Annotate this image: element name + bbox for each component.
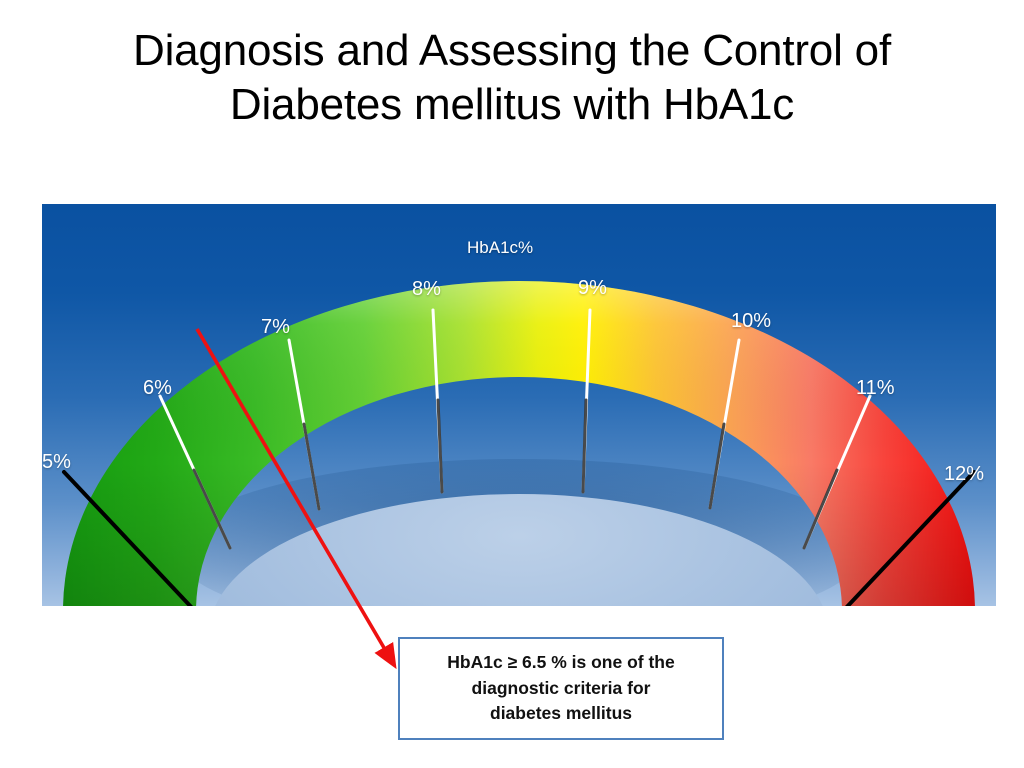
diagnostic-criteria-callout: HbA1c ≥ 6.5 % is one of the diagnostic c…	[398, 637, 724, 740]
gauge-graphic	[42, 204, 996, 606]
callout-text: HbA1c ≥ 6.5 % is one of the diagnostic c…	[439, 650, 682, 726]
page-title: Diagnosis and Assessing the Control of D…	[0, 24, 1024, 131]
callout-line-3: diabetes mellitus	[447, 701, 674, 726]
callout-line-1: HbA1c ≥ 6.5 % is one of the	[447, 650, 674, 675]
callout-line-2: diagnostic criteria for	[447, 676, 674, 701]
page-title-line-1: Diagnosis and Assessing the Control of	[0, 24, 1024, 78]
hba1c-gauge-figure: HbA1c% 5% 6% 7% 8% 9% 10% 11% 12%	[42, 204, 996, 606]
page-title-line-2: Diabetes mellitus with HbA1c	[0, 78, 1024, 132]
